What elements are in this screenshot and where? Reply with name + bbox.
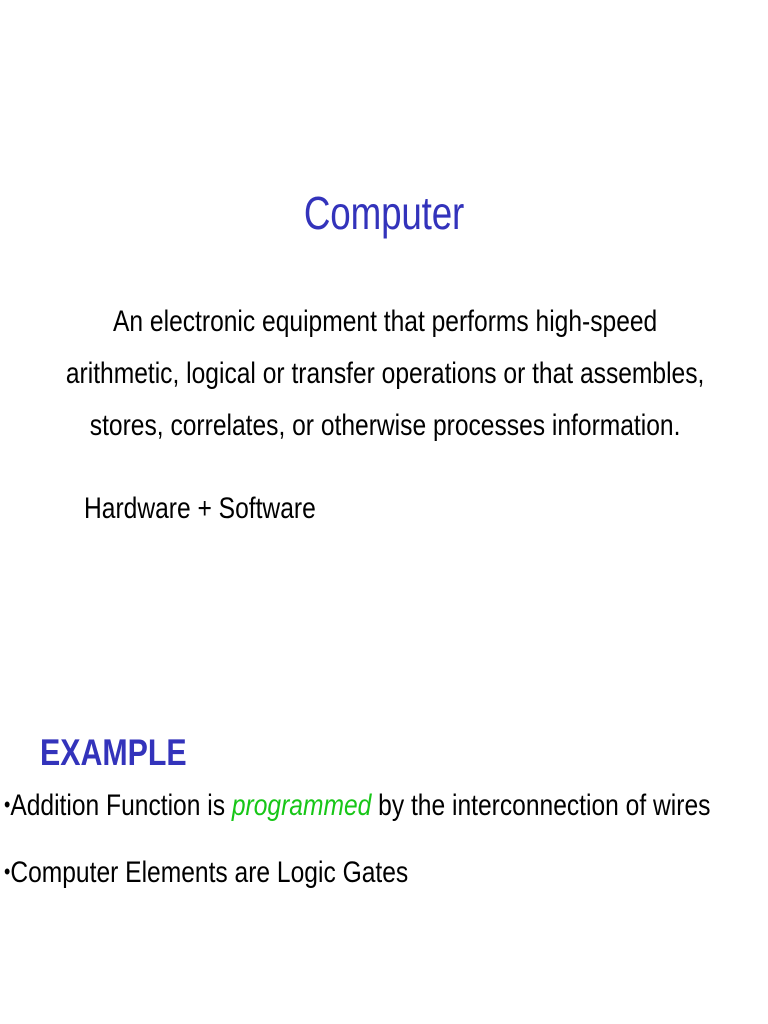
- bullet-text-before: Addition Function is: [10, 789, 232, 822]
- example-heading: EXAMPLE: [40, 731, 187, 775]
- bullet-text-emphasis: programmed: [232, 789, 371, 822]
- list-item: •Computer Elements are Logic Gates: [4, 839, 627, 906]
- presentation-slide: Computer An electronic equipment that pe…: [0, 0, 768, 1024]
- definition-line-2: arithmetic, logical or transfer operatio…: [66, 357, 705, 390]
- definition-line-1: An electronic equipment that performs hi…: [113, 305, 657, 338]
- slide-title: Computer: [77, 189, 691, 237]
- hardware-software-text: Hardware + Software: [84, 489, 316, 529]
- definition-line-3: stores, correlates, or otherwise process…: [90, 409, 681, 442]
- list-item: •Addition Function is programmed by the …: [4, 772, 627, 839]
- definition-paragraph: An electronic equipment that performs hi…: [44, 296, 726, 452]
- bullet-text-after: by the interconnection of wires: [371, 789, 710, 822]
- bullet-text-before: Computer Elements are Logic Gates: [10, 856, 408, 889]
- example-bullet-list: •Addition Function is programmed by the …: [4, 772, 764, 906]
